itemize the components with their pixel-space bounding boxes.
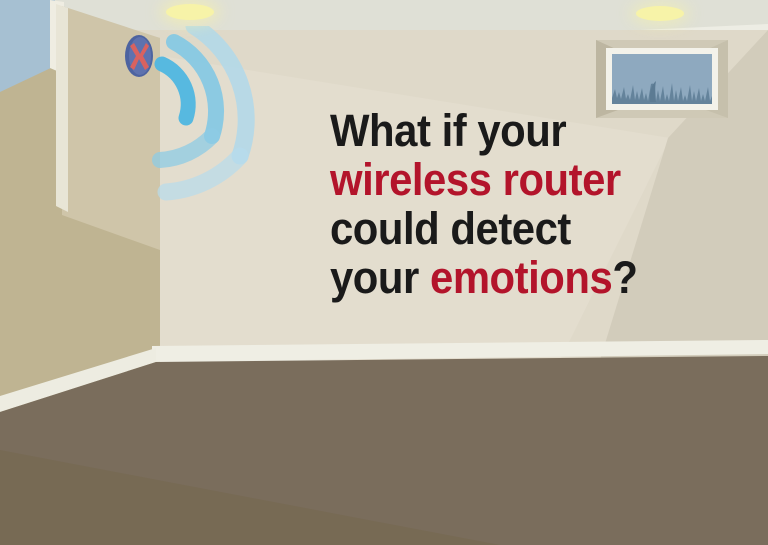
window-grass-silhouette	[612, 78, 712, 104]
wifi-arc-2-tail	[160, 136, 212, 160]
headline-seg-could-detect: could detect	[330, 203, 571, 254]
headline-line-2: wireless router	[330, 157, 637, 202]
headline-seg-your: your	[330, 252, 430, 303]
headline-seg-wireless-router: wireless router	[330, 154, 621, 205]
headline-text: What if your wireless router could detec…	[330, 108, 637, 304]
title-card-scene: What if your wireless router could detec…	[0, 0, 768, 545]
headline-line-4: your emotions?	[330, 255, 637, 300]
ceiling-light-right-icon	[636, 6, 684, 21]
left-wall-column-edge	[56, 0, 68, 230]
headline-seg-emotions: emotions	[430, 252, 612, 303]
wifi-arc-1	[162, 64, 188, 118]
headline-seg-what-if-your: What if your	[330, 105, 566, 156]
headline-seg-question-mark: ?	[612, 252, 637, 303]
headline-line-1: What if your	[330, 108, 637, 153]
wireless-router-icon	[124, 34, 154, 78]
wifi-waves-group	[148, 26, 288, 206]
headline-line-3: could detect	[330, 206, 637, 251]
window-pane	[612, 54, 712, 104]
ceiling-light-left-icon	[166, 4, 214, 20]
